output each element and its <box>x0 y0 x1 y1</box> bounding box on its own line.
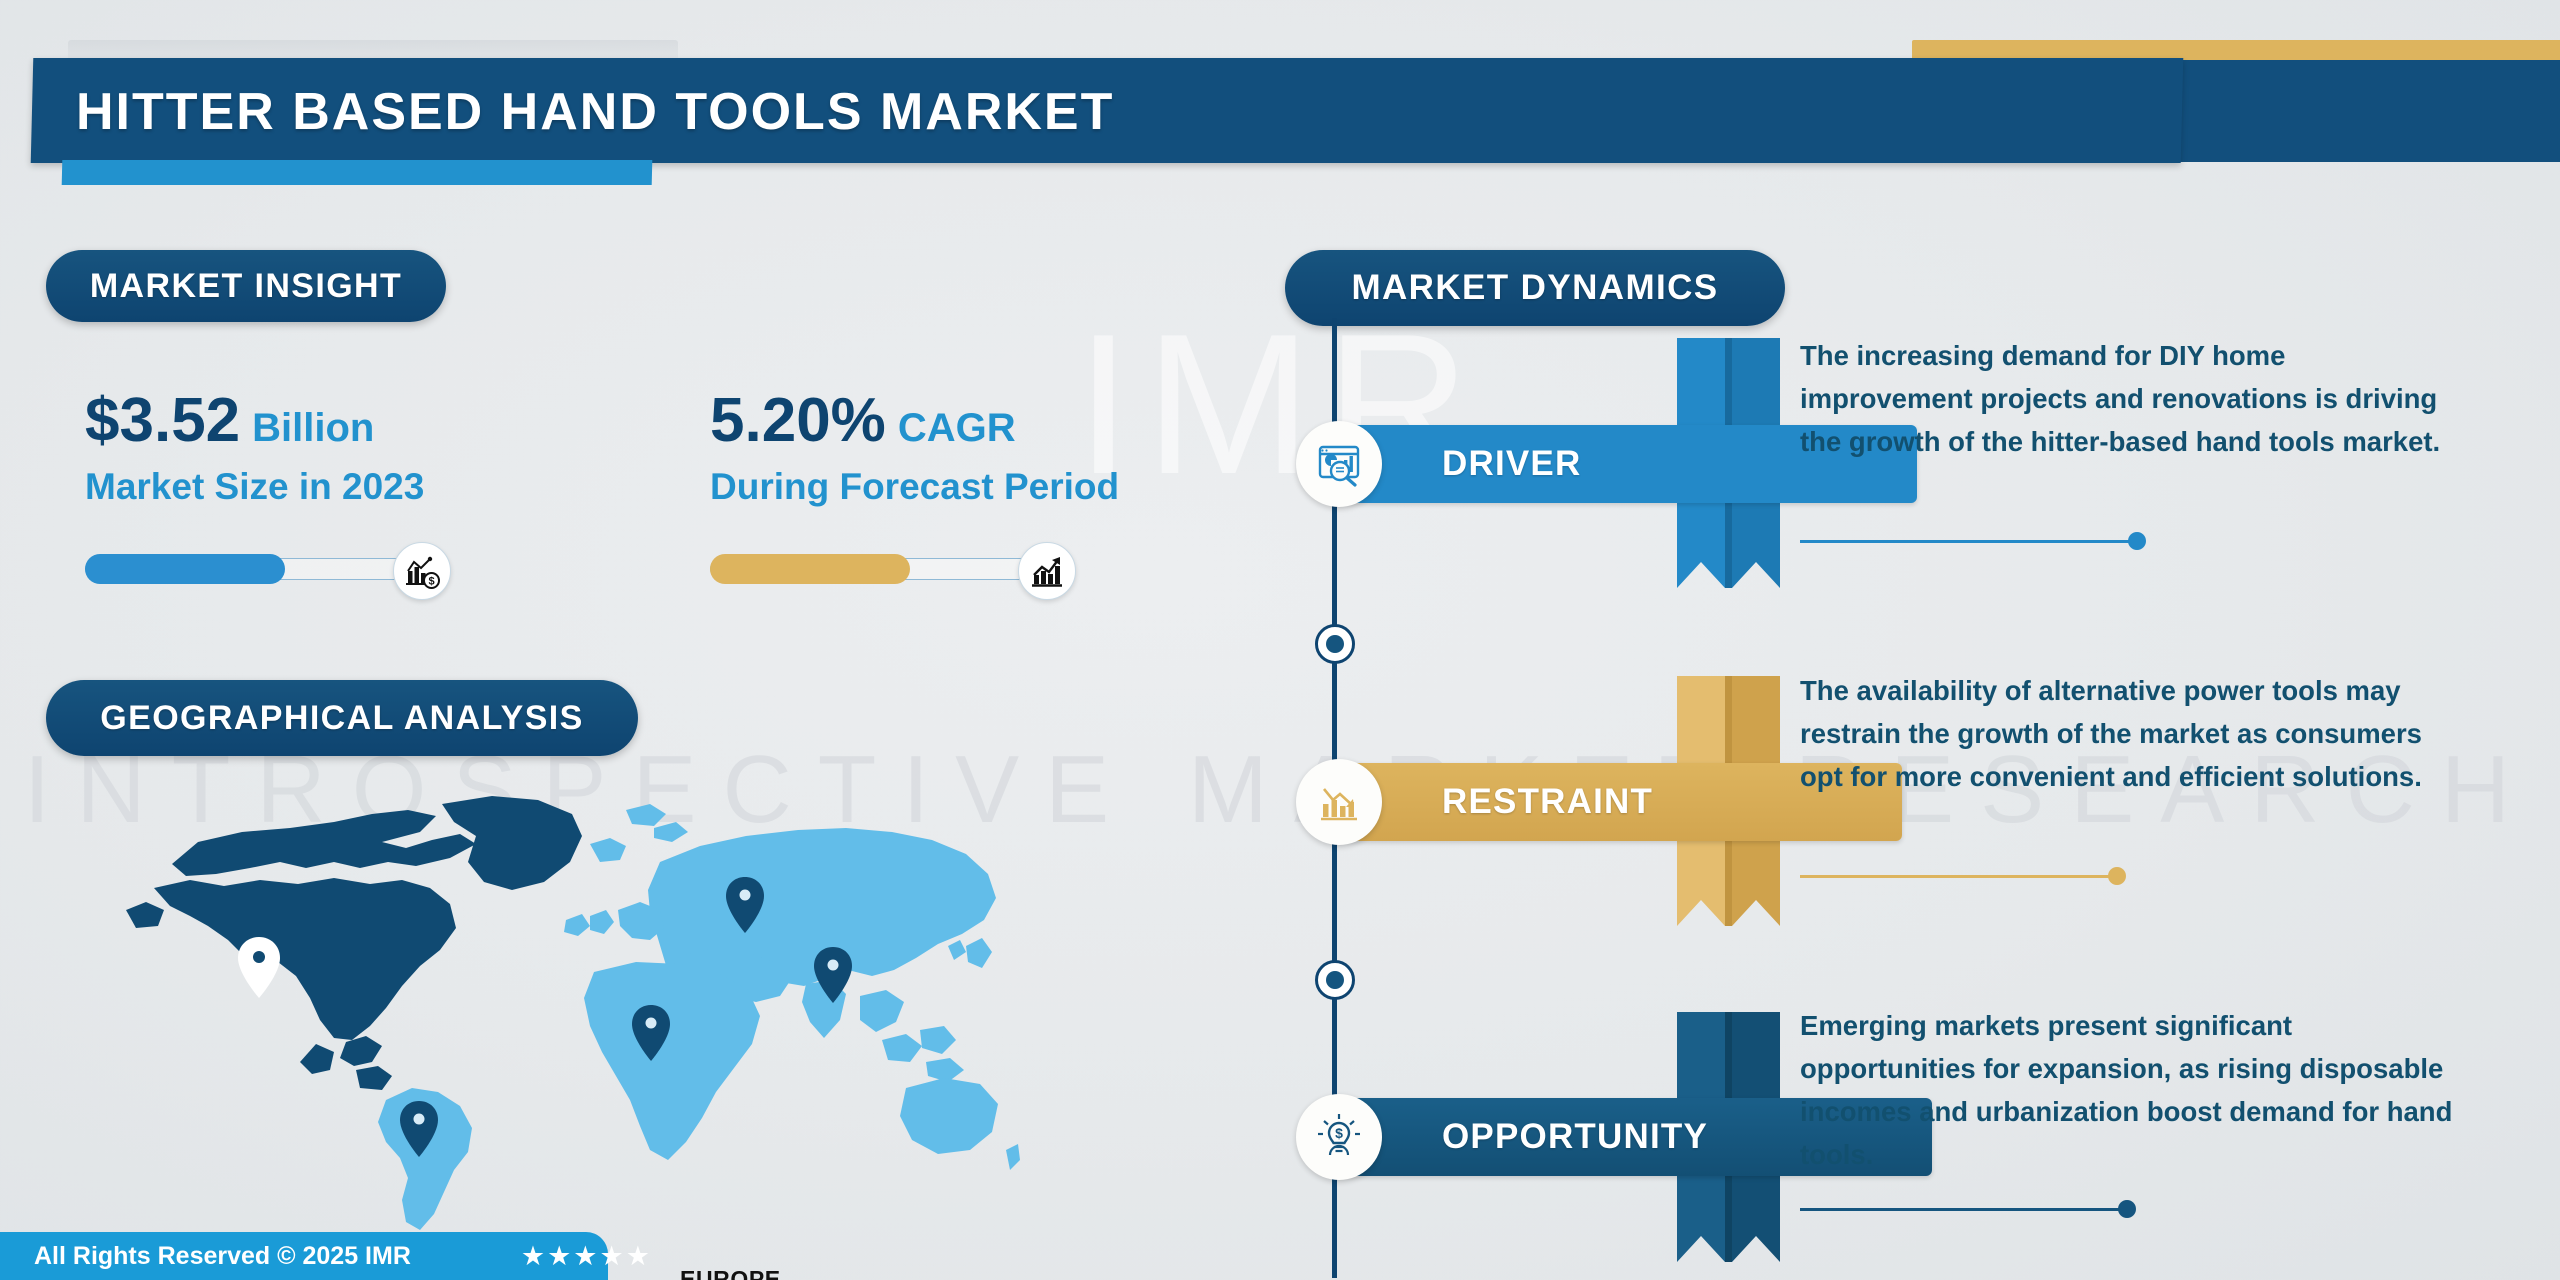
metric-market-size-progress: $ <box>85 542 505 594</box>
metric-cagr-value: 5.20% <box>710 386 886 455</box>
analytics-dashboard-search-icon <box>1296 421 1382 507</box>
restraint-label: RESTRAINT <box>1442 782 1653 822</box>
metric-cagr: 5.20%CAGR During Forecast Period <box>710 390 1180 594</box>
page-header: HITTER BASED HAND TOOLS MARKET <box>0 0 2560 220</box>
driver-label: DRIVER <box>1442 444 1581 484</box>
footer-copyright: All Rights Reserved © 2025 IMR <box>34 1242 411 1271</box>
restraint-underline <box>1800 875 2125 878</box>
metric-market-size: $3.52Billion Market Size in 2023 $ <box>85 390 505 594</box>
lightbulb-dollar-icon: $ <box>1296 1094 1382 1180</box>
map-region-north-america <box>126 796 582 1090</box>
opportunity-underline-dot <box>2118 1200 2136 1218</box>
market-dynamics-pill: MARKET DYNAMICS <box>1285 250 1785 326</box>
opportunity-description: Emerging markets present significant opp… <box>1800 1005 2460 1177</box>
timeline-node-1 <box>1315 624 1355 664</box>
metric-cagr-caption: During Forecast Period <box>710 466 1180 508</box>
restraint-description: The availability of alternative power to… <box>1800 670 2460 799</box>
geographical-analysis-pill: GEOGRAPHICAL ANALYSIS <box>46 680 638 756</box>
page-title: HITTER BASED HAND TOOLS MARKET <box>76 82 1114 142</box>
world-map: NORTH AMERICA SOUTH AMERICA EUROPE ASIA … <box>120 790 740 1120</box>
market-insight-label: MARKET INSIGHT <box>90 267 402 306</box>
timeline-node-2 <box>1315 960 1355 1000</box>
metric-market-size-caption: Market Size in 2023 <box>85 466 505 508</box>
driver-underline <box>1800 540 2145 543</box>
metric-cagr-unit: CAGR <box>898 406 1016 450</box>
driver-description: The increasing demand for DIY home impro… <box>1800 335 2460 464</box>
metric-cagr-value-row: 5.20%CAGR <box>710 390 1180 452</box>
opportunity-underline <box>1800 1208 2135 1211</box>
svg-text:$: $ <box>1335 1125 1343 1141</box>
metric-market-size-value-row: $3.52Billion <box>85 390 505 452</box>
driver-underline-dot <box>2128 532 2146 550</box>
metric-cagr-progress <box>710 542 1180 594</box>
metric-market-size-value: $3.52 <box>85 386 240 455</box>
bar-chart-dollar-icon: $ <box>393 542 451 600</box>
map-pin-north-america <box>238 937 280 998</box>
footer-bar: All Rights Reserved © 2025 IMR ★★★★★ <box>0 1232 608 1280</box>
svg-text:$: $ <box>428 576 434 588</box>
declining-bar-chart-icon <box>1296 759 1382 845</box>
market-insight-pill: MARKET INSIGHT <box>46 250 446 322</box>
metric-market-size-unit: Billion <box>252 406 374 450</box>
progress-fill <box>710 554 910 584</box>
header-blue-accent-bar <box>62 160 653 185</box>
progress-fill <box>85 554 285 584</box>
geographical-analysis-label: GEOGRAPHICAL ANALYSIS <box>100 699 583 738</box>
opportunity-label: OPPORTUNITY <box>1442 1117 1708 1157</box>
growth-chart-arrow-icon <box>1018 542 1076 600</box>
footer-rating-stars: ★★★★★ <box>521 1241 652 1272</box>
map-label-europe: EUROPE <box>680 1266 781 1280</box>
market-dynamics-label: MARKET DYNAMICS <box>1351 268 1718 308</box>
restraint-underline-dot <box>2108 867 2126 885</box>
